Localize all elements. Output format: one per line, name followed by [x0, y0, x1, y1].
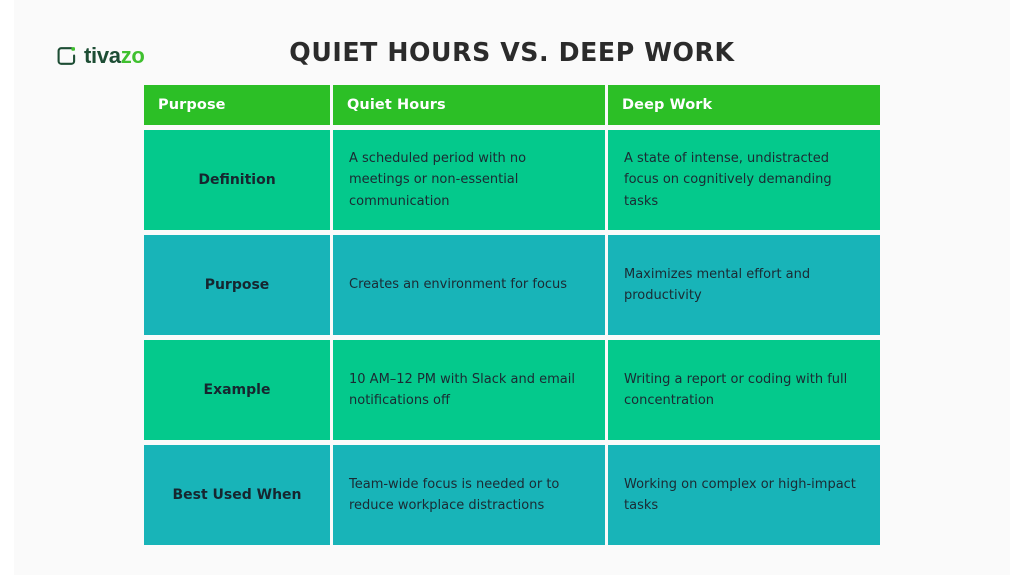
cell-text: Team-wide focus is needed or to reduce w… — [349, 474, 589, 516]
column-header-purpose: Purpose — [144, 85, 330, 125]
slide-canvas: tivazo QUIET HOURS VS. DEEP WORK Purpose… — [0, 0, 1024, 575]
row-cell-quiet-hours: A scheduled period with no meetings or n… — [333, 130, 605, 230]
row-cell-deep-work: A state of intense, undistracted focus o… — [608, 130, 880, 230]
row-cell-quiet-hours: Creates an environment for focus — [333, 235, 605, 335]
canvas-right-margin — [1010, 0, 1024, 575]
table-row: Example 10 AM–12 PM with Slack and email… — [144, 340, 880, 440]
column-header-deep-work: Deep Work — [608, 85, 880, 125]
row-label-cell: Purpose — [144, 235, 330, 335]
page-title: QUIET HOURS VS. DEEP WORK — [15, 38, 1008, 68]
row-cell-deep-work: Working on complex or high-impact tasks — [608, 445, 880, 545]
table-header-row: Purpose Quiet Hours Deep Work — [144, 85, 880, 125]
column-header-quiet-hours: Quiet Hours — [333, 85, 605, 125]
table-row: Best Used When Team-wide focus is needed… — [144, 445, 880, 545]
row-label: Best Used When — [160, 485, 314, 505]
column-header-label: Deep Work — [622, 97, 712, 113]
row-label-cell: Example — [144, 340, 330, 440]
table-row: Purpose Creates an environment for focus… — [144, 235, 880, 335]
cell-text: Creates an environment for focus — [349, 274, 567, 295]
row-cell-deep-work: Writing a report or coding with full con… — [608, 340, 880, 440]
row-cell-quiet-hours: Team-wide focus is needed or to reduce w… — [333, 445, 605, 545]
column-header-label: Quiet Hours — [347, 97, 446, 113]
row-label: Example — [160, 380, 314, 400]
row-label-cell: Best Used When — [144, 445, 330, 545]
row-label: Definition — [160, 170, 314, 190]
cell-text: A state of intense, undistracted focus o… — [624, 148, 864, 211]
cell-text: Writing a report or coding with full con… — [624, 369, 864, 411]
cell-text: 10 AM–12 PM with Slack and email notific… — [349, 369, 589, 411]
row-cell-quiet-hours: 10 AM–12 PM with Slack and email notific… — [333, 340, 605, 440]
cell-text: Working on complex or high-impact tasks — [624, 474, 864, 516]
canvas-left-margin — [0, 0, 14, 575]
comparison-table: Purpose Quiet Hours Deep Work Definition… — [144, 85, 880, 545]
table-row: Definition A scheduled period with no me… — [144, 130, 880, 230]
column-header-label: Purpose — [158, 97, 226, 113]
row-label-cell: Definition — [144, 130, 330, 230]
cell-text: A scheduled period with no meetings or n… — [349, 148, 589, 211]
row-cell-deep-work: Maximizes mental effort and productivity — [608, 235, 880, 335]
row-label: Purpose — [160, 275, 314, 295]
cell-text: Maximizes mental effort and productivity — [624, 264, 864, 306]
